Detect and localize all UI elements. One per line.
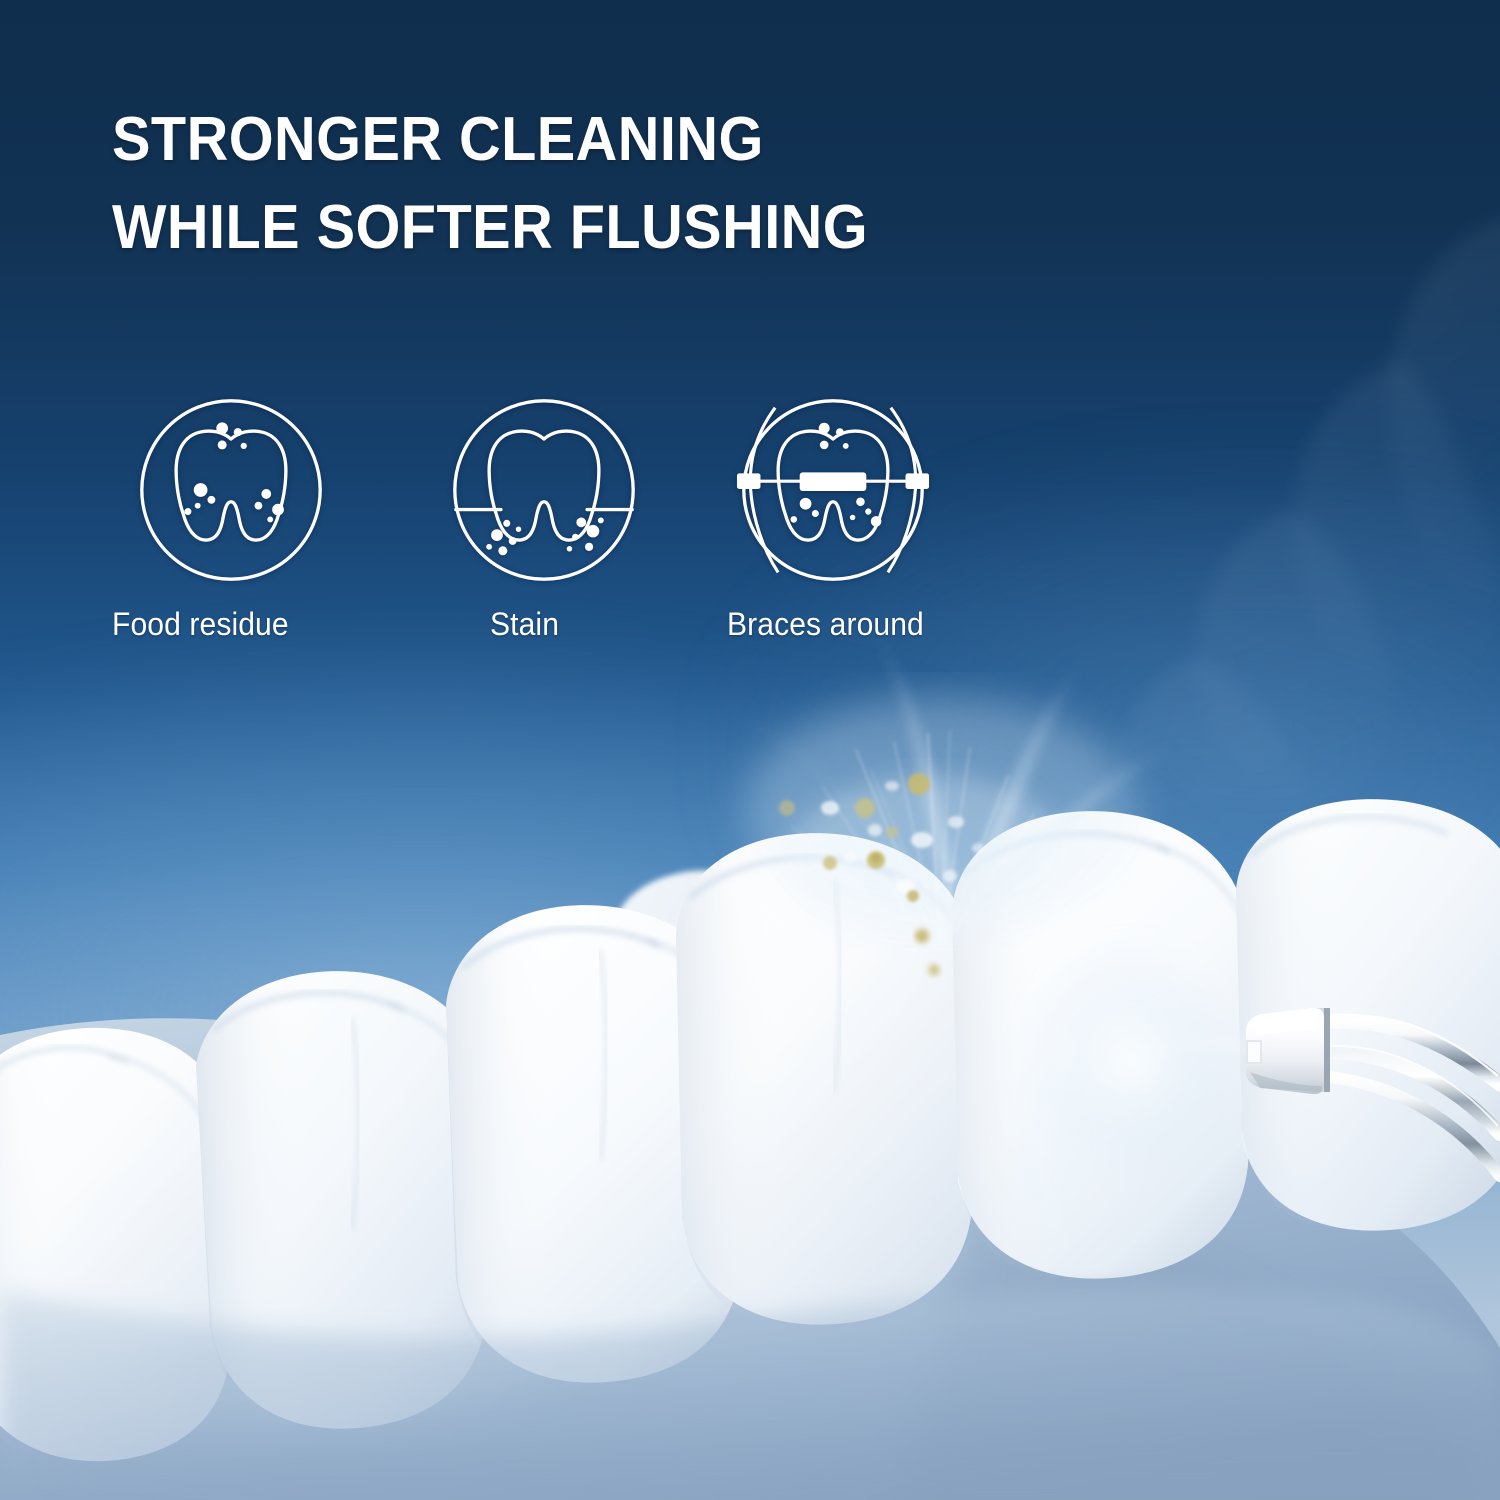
feature-food-residue: Food residue xyxy=(112,392,432,643)
tooth-braces-icon xyxy=(735,392,931,588)
headline: STRONGER CLEANING WHILE SOFTER FLUSHING xyxy=(112,96,925,272)
tooth-stain-gumline-icon xyxy=(446,392,642,588)
tooth-food-residue-icon xyxy=(133,392,329,588)
feature-label: Stain xyxy=(490,606,713,643)
headline-line-1: STRONGER CLEANING xyxy=(112,96,868,184)
feature-stain: Stain xyxy=(432,392,727,643)
feature-braces-around: Braces around xyxy=(727,392,1027,643)
feature-icon-row: Food residue xyxy=(112,392,1027,643)
feature-label: Braces around xyxy=(727,606,1009,643)
nozzle-tip xyxy=(1246,1008,1324,1094)
nozzle-chrome-shaft xyxy=(1318,1015,1500,1176)
product-marketing-image: STRONGER CLEANING WHILE SOFTER FLUSHING xyxy=(0,0,1500,1500)
feature-label: Food residue xyxy=(112,606,413,643)
headline-line-2: WHILE SOFTER FLUSHING xyxy=(112,184,868,272)
